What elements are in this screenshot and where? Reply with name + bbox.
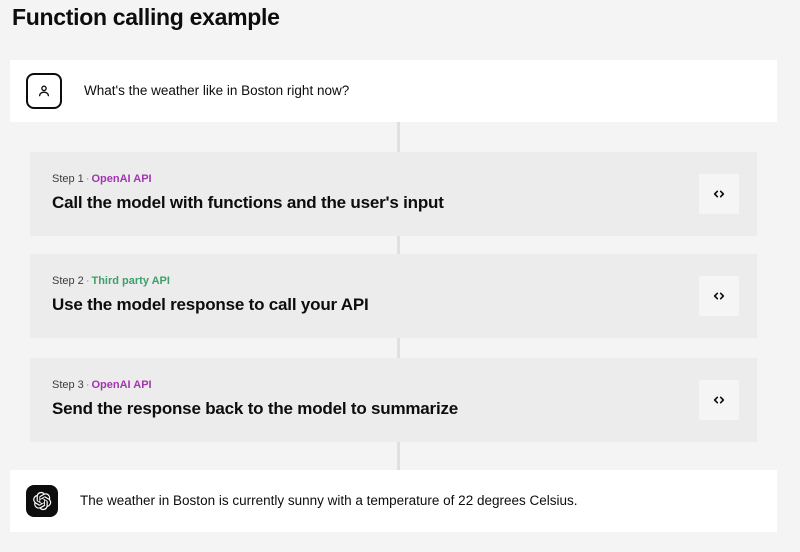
step-1-number: Step 1 (52, 173, 84, 185)
openai-logo-icon (26, 485, 58, 517)
step-2-code-button[interactable] (699, 276, 739, 316)
step-3-label: Step 3·OpenAI API (52, 378, 152, 392)
connector-line-segment (397, 120, 400, 156)
code-icon (711, 288, 727, 304)
step-1-api-label: OpenAI API (91, 173, 151, 185)
step-card-2: Step 2·Third party API Use the model res… (30, 254, 757, 338)
connector-line-segment (397, 438, 400, 474)
step-2-number: Step 2 (52, 275, 84, 287)
step-1-label: Step 1·OpenAI API (52, 172, 152, 186)
assistant-message-text: The weather in Boston is currently sunny… (80, 492, 578, 510)
step-3-code-button[interactable] (699, 380, 739, 420)
code-icon (711, 392, 727, 408)
step-2-heading: Use the model response to call your API (52, 292, 369, 318)
user-icon (26, 73, 62, 109)
step-3-number: Step 3 (52, 379, 84, 391)
step-card-3: Step 3·OpenAI API Send the response back… (30, 358, 757, 442)
step-1-heading: Call the model with functions and the us… (52, 190, 444, 216)
page-title: Function calling example (12, 2, 280, 32)
code-icon (711, 186, 727, 202)
user-message-card: What's the weather like in Boston right … (10, 60, 777, 122)
step-2-api-label: Third party API (91, 275, 169, 287)
assistant-message-card: The weather in Boston is currently sunny… (10, 470, 777, 532)
step-card-1: Step 1·OpenAI API Call the model with fu… (30, 152, 757, 236)
step-3-heading: Send the response back to the model to s… (52, 396, 458, 422)
step-2-label: Step 2·Third party API (52, 274, 170, 288)
user-message-text: What's the weather like in Boston right … (84, 82, 349, 100)
step-3-api-label: OpenAI API (91, 379, 151, 391)
step-1-code-button[interactable] (699, 174, 739, 214)
